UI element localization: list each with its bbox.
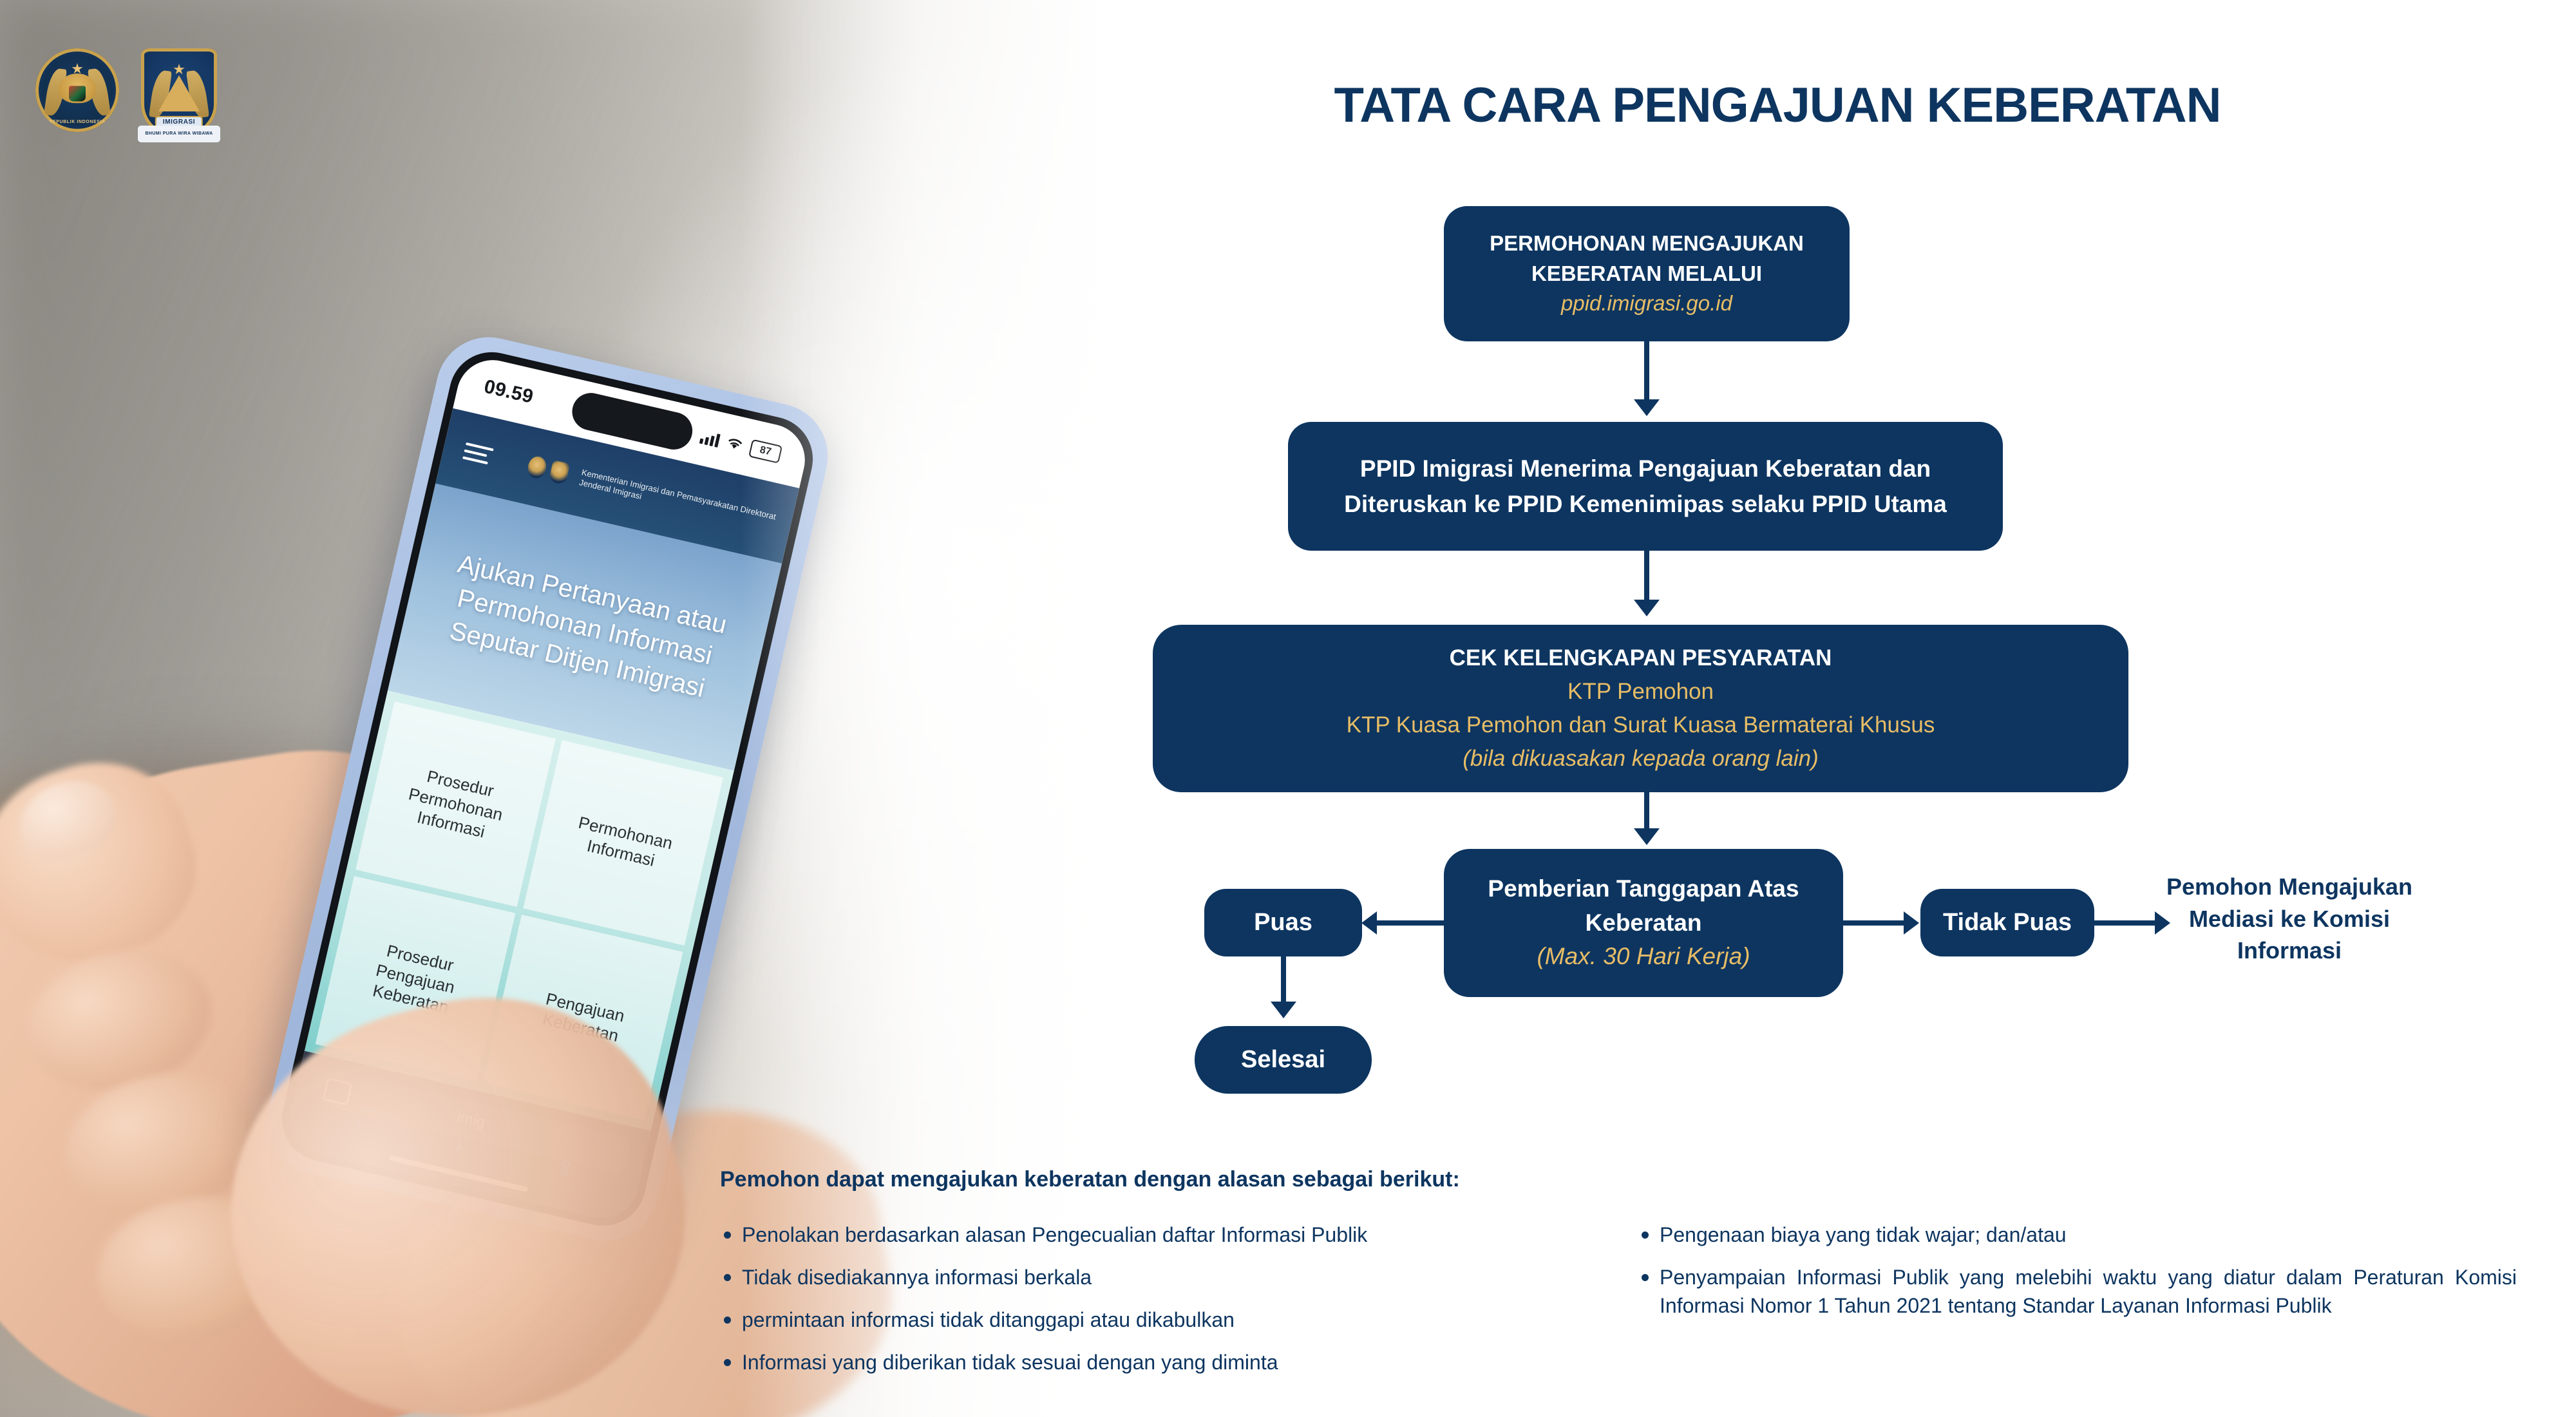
flow-label-mediasi: Pemohon Mengajukan Mediasi ke Komisi Inf… bbox=[2138, 871, 2441, 967]
emblem-caption: REPUBLIK INDONESIA bbox=[49, 120, 105, 124]
node1-line2: KEBERATAN MELALUI bbox=[1531, 259, 1762, 289]
node2-line2: Diteruskan ke PPID Kemenimipas selaku PP… bbox=[1344, 486, 1947, 522]
status-time: 09.59 bbox=[482, 376, 535, 408]
app-card-permohonan-informasi[interactable]: Permohonan Informasi bbox=[523, 740, 723, 946]
reason-item: Penyampaian Informasi Publik yang melebi… bbox=[1638, 1263, 2517, 1320]
node4-line2: Keberatan bbox=[1586, 906, 1702, 940]
reasons-left-column: Penolakan berdasarkan alasan Pengecualia… bbox=[720, 1221, 1599, 1391]
arrow-node4-puas-shaft bbox=[1377, 920, 1448, 926]
arrow-node1-node2-head bbox=[1634, 399, 1660, 416]
reason-item: Penolakan berdasarkan alasan Pengecualia… bbox=[720, 1221, 1599, 1249]
reason-item: Pengenaan biaya yang tidak wajar; dan/at… bbox=[1638, 1221, 2517, 1249]
arrow-node2-node3-head bbox=[1634, 600, 1660, 616]
node1-url: ppid.imigrasi.go.id bbox=[1561, 289, 1732, 319]
arrow-puas-selesai-head bbox=[1271, 1002, 1296, 1018]
arrow-node3-node4-shaft bbox=[1644, 792, 1649, 832]
arrow-node1-node2-shaft bbox=[1644, 341, 1649, 403]
flow-node-puas: Puas bbox=[1204, 889, 1362, 956]
hero-photo: 09.59 87 bbox=[0, 0, 1095, 1417]
agency-emblems: ★ REPUBLIK INDONESIA ★ IMIGRASI BHUMI PU… bbox=[35, 48, 217, 138]
flow-node-tidak-puas: Tidak Puas bbox=[1920, 889, 2094, 956]
reasons-columns: Penolakan berdasarkan alasan Pengecualia… bbox=[720, 1221, 2517, 1391]
node4-line1: Pemberian Tanggapan Atas bbox=[1488, 872, 1799, 906]
arrow-node4-tidakpuas-head bbox=[1904, 911, 1919, 935]
arrow-node4-tidakpuas-shaft bbox=[1843, 920, 1905, 926]
reason-item: permintaan informasi tidak ditanggapi at… bbox=[720, 1306, 1599, 1334]
flow-node-pemberian-tanggapan: Pemberian Tanggapan Atas Keberatan (Max.… bbox=[1444, 849, 1843, 997]
flow-node-cek-kelengkapan: CEK KELENGKAPAN PESYARATAN KTP Pemohon K… bbox=[1153, 625, 2128, 792]
arrow-puas-selesai-shaft bbox=[1281, 956, 1286, 1005]
reason-item: Tidak disediakannya informasi berkala bbox=[720, 1263, 1599, 1291]
flow-node-ppid-menerima: PPID Imigrasi Menerima Pengajuan Keberat… bbox=[1288, 422, 2003, 551]
node3-line3: (bila dikuasakan kepada orang lain) bbox=[1463, 742, 1819, 775]
hamburger-menu-icon[interactable] bbox=[462, 442, 494, 465]
reasons-left-list: Penolakan berdasarkan alasan Pengecualia… bbox=[720, 1221, 1599, 1377]
arrow-node2-node3-shaft bbox=[1644, 551, 1649, 604]
emblem-ribbon: BHUMI PURA WIRA WIBAWA bbox=[138, 126, 220, 142]
reasons-right-list: Pengenaan biaya yang tidak wajar; dan/at… bbox=[1638, 1221, 2517, 1320]
app-card-prosedur-permohonan-informasi[interactable]: Prosedur Permohonan Informasi bbox=[355, 701, 556, 907]
node3-heading: CEK KELENGKAPAN PESYARATAN bbox=[1450, 642, 1832, 675]
kementerian-emblem-icon bbox=[526, 455, 548, 480]
kementerian-imigrasi-dan-pemasyarakatan-emblem: ★ REPUBLIK INDONESIA bbox=[35, 48, 119, 132]
signal-icon bbox=[699, 430, 721, 448]
node3-line1: KTP Pemohon bbox=[1567, 675, 1714, 708]
reason-item: Informasi yang diberikan tidak sesuai de… bbox=[720, 1348, 1599, 1376]
node4-line3: (Max. 30 Hari Kerja) bbox=[1537, 940, 1750, 974]
app-hero-title: Ajukan Pertanyaan atau Permohonan Inform… bbox=[401, 538, 770, 716]
page-title: TATA CARA PENGAJUAN KEBERATAN bbox=[1146, 77, 2409, 133]
node1-line1: PERMOHONAN MENGAJUKAN bbox=[1490, 229, 1804, 259]
arrow-node3-node4-head bbox=[1634, 828, 1660, 845]
node2-line1: PPID Imigrasi Menerima Pengajuan Keberat… bbox=[1360, 451, 1931, 487]
node3-line2: KTP Kuasa Pemohon dan Surat Kuasa Bermat… bbox=[1347, 708, 1935, 742]
reasons-right-column: Pengenaan biaya yang tidak wajar; dan/at… bbox=[1638, 1221, 2517, 1391]
photo-fade-overlay bbox=[741, 0, 1140, 1417]
imigrasi-emblem-icon bbox=[548, 460, 571, 485]
flow-node-permohonan: PERMOHONAN MENGAJUKAN KEBERATAN MELALUI … bbox=[1444, 206, 1850, 341]
flow-node-selesai: Selesai bbox=[1195, 1026, 1372, 1094]
imigrasi-emblem: ★ IMIGRASI BHUMI PURA WIRA WIBAWA bbox=[141, 48, 217, 138]
arrow-node4-puas-head bbox=[1361, 911, 1377, 935]
infographic-canvas: 09.59 87 bbox=[0, 0, 2576, 1417]
reasons-heading: Pemohon dapat mengajukan keberatan denga… bbox=[720, 1167, 1460, 1192]
